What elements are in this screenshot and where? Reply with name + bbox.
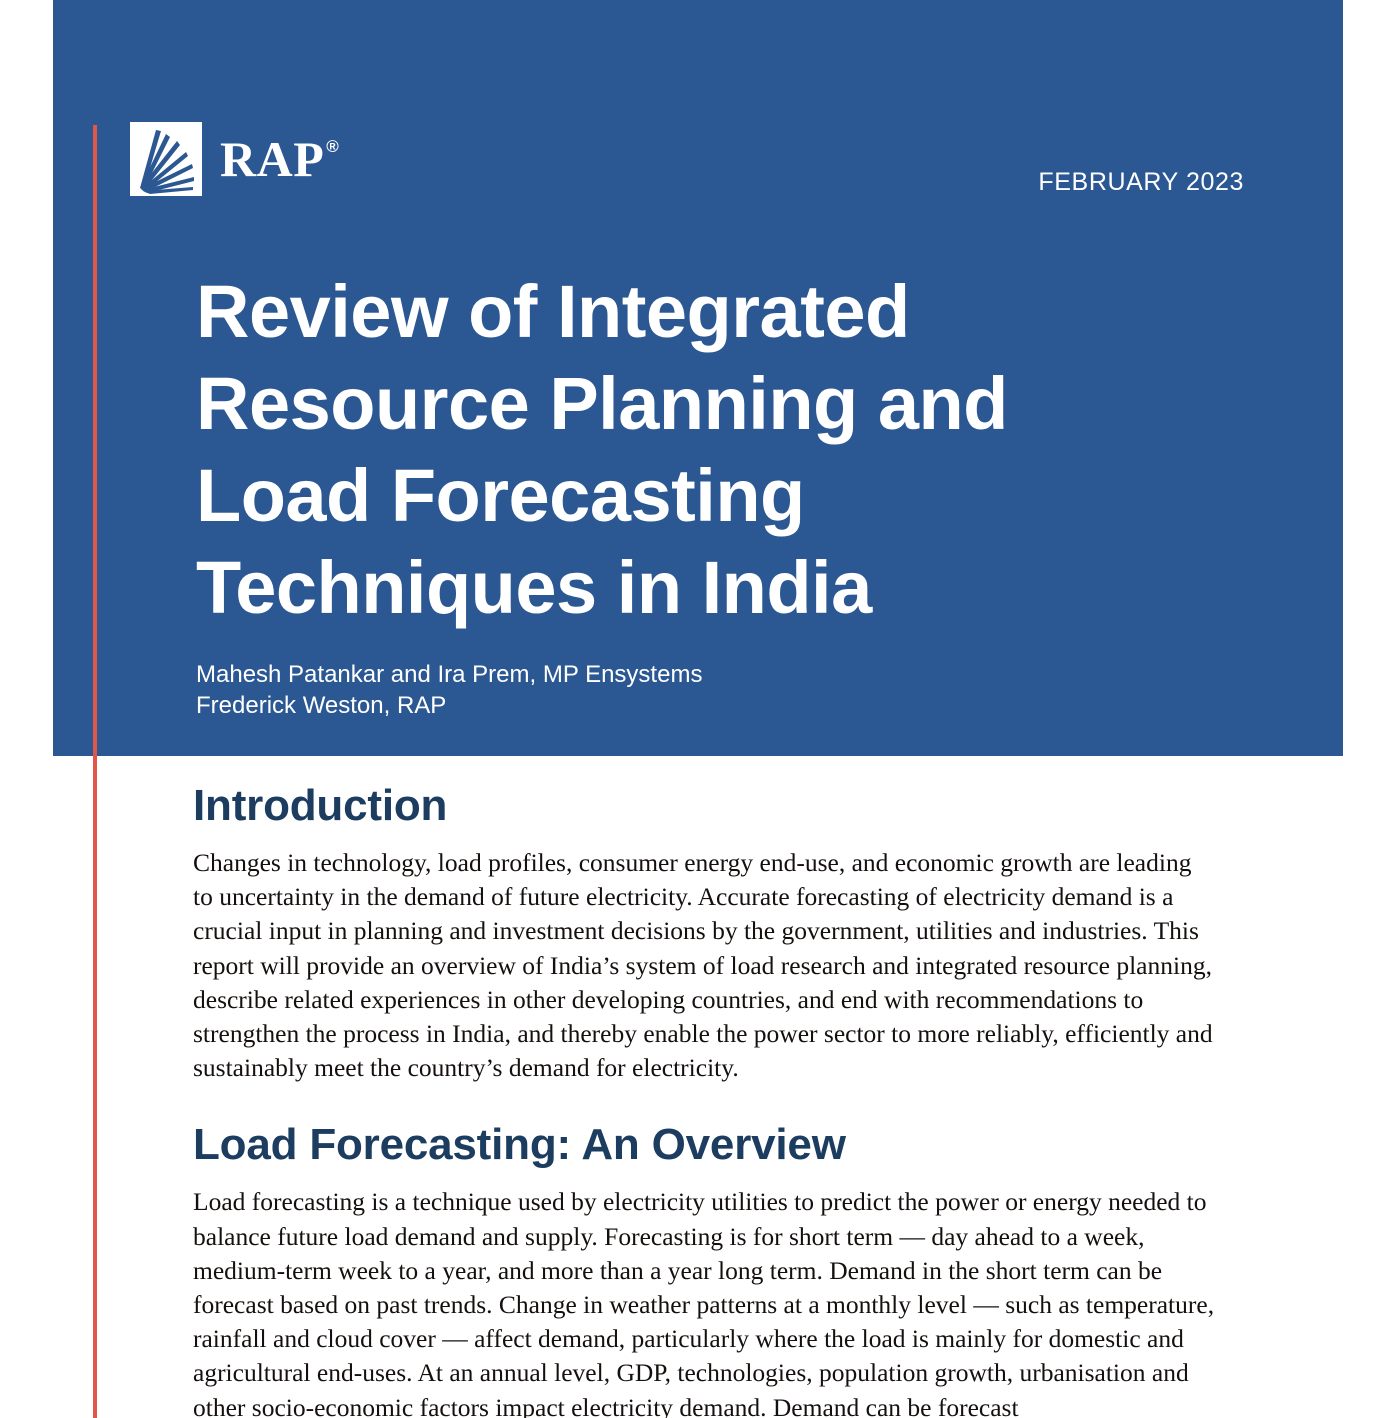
- accent-vertical-rule: [93, 125, 97, 1418]
- document-title: Review of Integrated Resource Planning a…: [196, 266, 1196, 634]
- rap-wordmark-text: RAP: [220, 134, 324, 184]
- title-line: Load Forecasting: [196, 450, 1196, 542]
- registered-trademark-icon: ®: [326, 138, 339, 155]
- document-body: Introduction Changes in technology, load…: [193, 780, 1215, 1418]
- publication-date: FEBRUARY 2023: [1038, 168, 1244, 197]
- author-block: Mahesh Patankar and Ira Prem, MP Ensyste…: [196, 659, 702, 721]
- title-line: Resource Planning and: [196, 358, 1196, 450]
- section-heading-introduction: Introduction: [193, 780, 1215, 832]
- section-heading-load-forecasting-overview: Load Forecasting: An Overview: [193, 1119, 1215, 1171]
- section-paragraph-introduction: Changes in technology, load profiles, co…: [193, 846, 1215, 1085]
- section-paragraph-load-forecasting-overview: Load forecasting is a technique used by …: [193, 1185, 1215, 1418]
- title-line: Review of Integrated: [196, 266, 1196, 358]
- rap-wordmark: RAP ®: [220, 134, 339, 184]
- author-line: Frederick Weston, RAP: [196, 690, 702, 721]
- rap-logo-mark-icon: [130, 122, 202, 196]
- title-line: Techniques in India: [196, 542, 1196, 634]
- rap-logo: RAP ®: [130, 122, 339, 196]
- author-line: Mahesh Patankar and Ira Prem, MP Ensyste…: [196, 659, 702, 690]
- document-page: RAP ® FEBRUARY 2023 Review of Integrated…: [0, 0, 1384, 1418]
